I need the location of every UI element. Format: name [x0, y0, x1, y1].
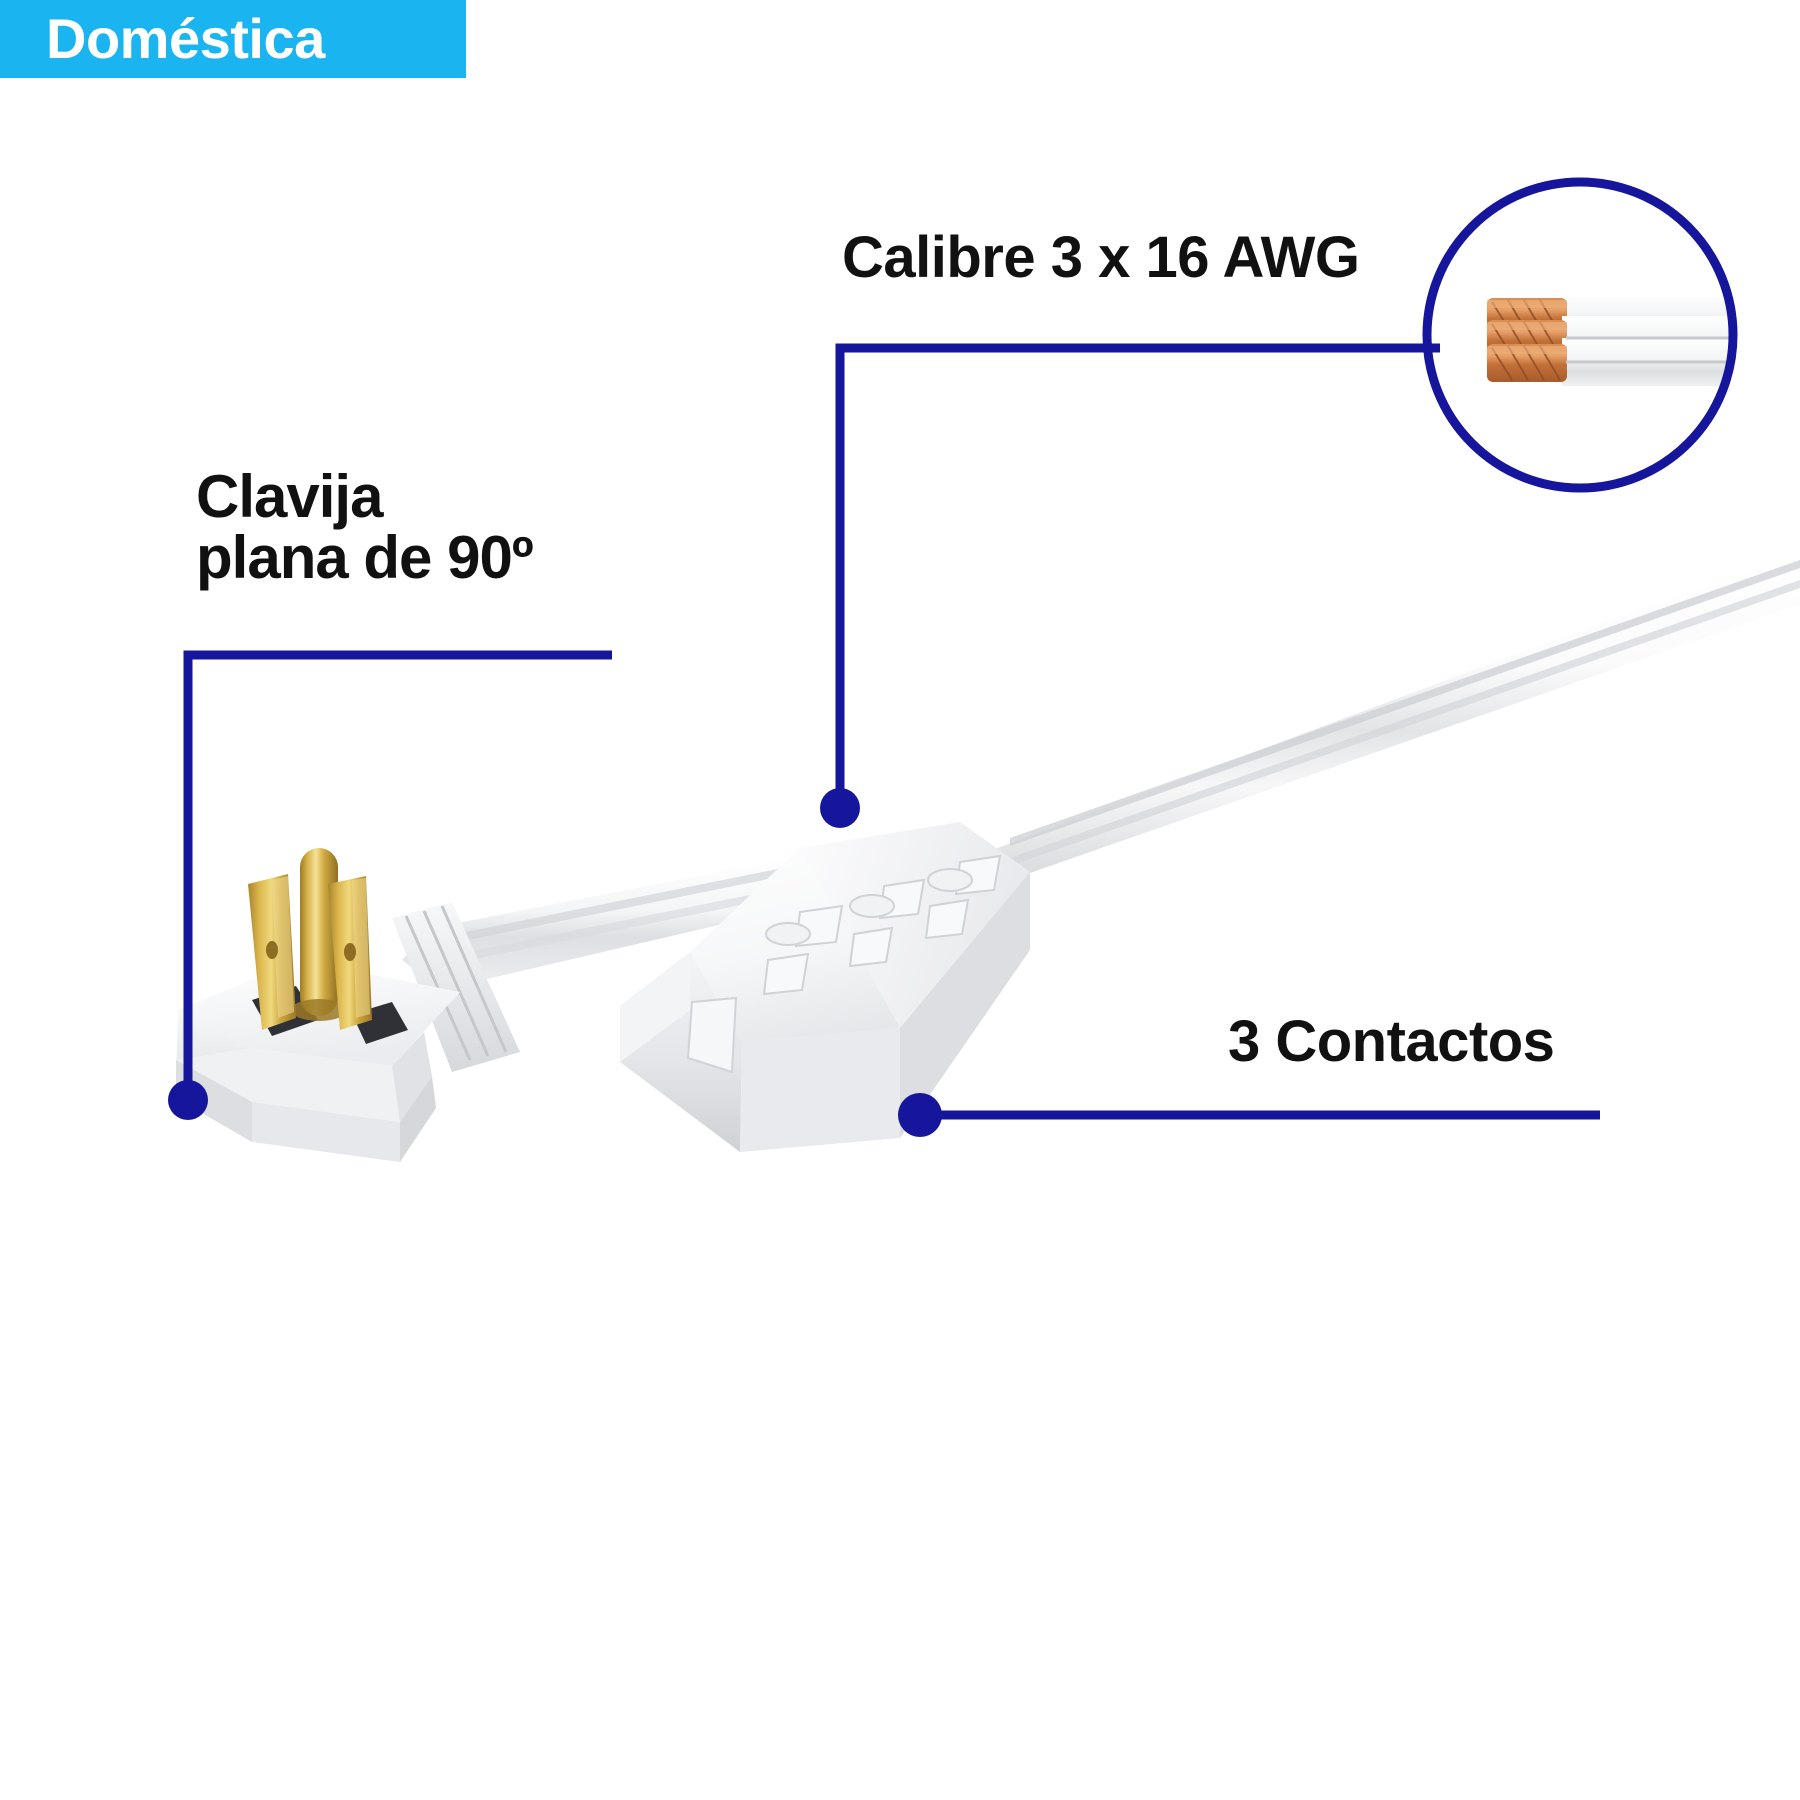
plug-90-degree-icon: [176, 848, 520, 1162]
outlet-strip-3-contacts-icon: [620, 822, 1030, 1152]
flat-cord-upper: [960, 548, 1800, 880]
wire-cross-section-detail: [1427, 182, 1800, 488]
diagram-artwork: [0, 0, 1800, 1800]
product-diagram: Doméstica Clavija plana de 90º Calibre 3…: [0, 0, 1800, 1800]
callout-leader-contactos: [898, 1093, 1600, 1137]
